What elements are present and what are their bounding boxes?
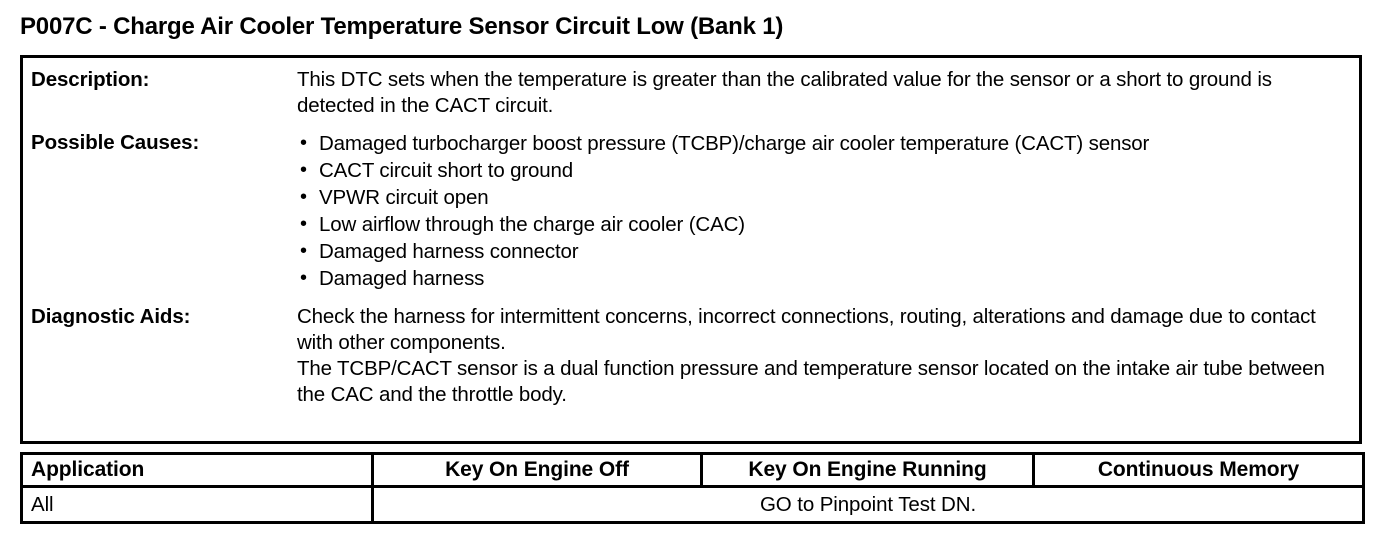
column-header-application: Application — [22, 454, 373, 487]
column-header-continuous-memory: Continuous Memory — [1034, 454, 1364, 487]
list-item: • Low airflow through the charge air coo… — [297, 211, 1341, 238]
dtc-info-box: Description: This DTC sets when the temp… — [20, 55, 1362, 444]
description-value: This DTC sets when the temperature is gr… — [297, 67, 1351, 119]
diagnostic-aids-row: Diagnostic Aids: Check the harness for i… — [23, 292, 1359, 408]
possible-causes-list: • Damaged turbocharger boost pressure (T… — [297, 130, 1341, 292]
bullet-icon: • — [300, 211, 307, 238]
bullet-icon: • — [300, 238, 307, 265]
list-item: • Damaged harness connector — [297, 238, 1341, 265]
bullet-icon: • — [300, 184, 307, 211]
possible-causes-label: Possible Causes: — [31, 130, 297, 156]
cell-application: All — [22, 487, 373, 523]
diagnostic-aids-label: Diagnostic Aids: — [31, 304, 297, 330]
list-item: • Damaged harness — [297, 265, 1341, 292]
description-label: Description: — [31, 67, 297, 93]
list-item: • VPWR circuit open — [297, 184, 1341, 211]
list-item-text: Low airflow through the charge air coole… — [319, 213, 745, 236]
description-text: This DTC sets when the temperature is gr… — [297, 67, 1341, 119]
application-test-table: Application Key On Engine Off Key On Eng… — [20, 452, 1365, 524]
bullet-icon: • — [300, 265, 307, 292]
list-item: • Damaged turbocharger boost pressure (T… — [297, 130, 1341, 157]
table-row: All GO to Pinpoint Test DN. — [22, 487, 1364, 523]
bullet-icon: • — [300, 130, 307, 157]
column-header-key-on-engine-off: Key On Engine Off — [373, 454, 702, 487]
list-item-text: Damaged harness — [319, 267, 484, 290]
column-header-key-on-engine-running: Key On Engine Running — [702, 454, 1034, 487]
list-item-text: CACT circuit short to ground — [319, 159, 573, 182]
diagnostic-aids-paragraph: Check the harness for intermittent conce… — [297, 304, 1341, 356]
bullet-icon: • — [300, 157, 307, 184]
list-item-text: Damaged harness connector — [319, 240, 579, 263]
description-row: Description: This DTC sets when the temp… — [23, 58, 1359, 119]
dtc-document-page: P007C - Charge Air Cooler Temperature Se… — [0, 0, 1392, 546]
diagnostic-aids-paragraph: The TCBP/CACT sensor is a dual function … — [297, 356, 1341, 408]
diagnostic-aids-value: Check the harness for intermittent conce… — [297, 304, 1351, 408]
list-item-text: Damaged turbocharger boost pressure (TCB… — [319, 132, 1149, 155]
possible-causes-row: Possible Causes: • Damaged turbocharger … — [23, 119, 1359, 292]
possible-causes-value: • Damaged turbocharger boost pressure (T… — [297, 130, 1351, 292]
cell-test-result: GO to Pinpoint Test DN. — [373, 487, 1364, 523]
table-header-row: Application Key On Engine Off Key On Eng… — [22, 454, 1364, 487]
list-item: • CACT circuit short to ground — [297, 157, 1341, 184]
list-item-text: VPWR circuit open — [319, 186, 488, 209]
page-title: P007C - Charge Air Cooler Temperature Se… — [20, 13, 783, 41]
